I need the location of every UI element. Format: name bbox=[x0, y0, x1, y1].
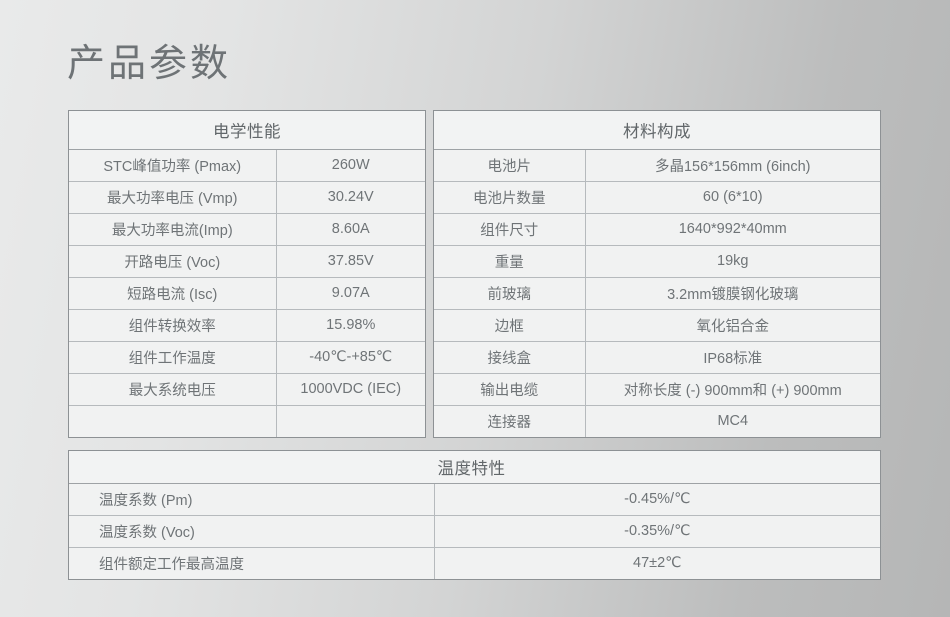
row-label: 连接器 bbox=[434, 405, 585, 437]
row-label: 温度系数 (Pm) bbox=[69, 483, 434, 515]
row-label: 短路电流 (Isc) bbox=[69, 277, 276, 309]
row-value: IP68标准 bbox=[585, 341, 880, 373]
table-row: 电池片 多晶156*156mm (6inch) bbox=[434, 149, 880, 181]
row-label: 组件工作温度 bbox=[69, 341, 276, 373]
table-row: 组件额定工作最高温度 47±2℃ bbox=[69, 547, 880, 579]
table-header-row: 材料构成 bbox=[434, 111, 880, 149]
row-value: 多晶156*156mm (6inch) bbox=[585, 149, 880, 181]
table-row: 最大功率电压 (Vmp) 30.24V bbox=[69, 181, 425, 213]
row-label: 组件额定工作最高温度 bbox=[69, 547, 434, 579]
temperature-characteristics-table: 温度特性 温度系数 (Pm) -0.45%/℃ 温度系数 (Voc) -0.35… bbox=[68, 450, 881, 580]
row-label: 组件转换效率 bbox=[69, 309, 276, 341]
row-label: 重量 bbox=[434, 245, 585, 277]
temperature-table-title: 温度特性 bbox=[69, 451, 880, 483]
row-value: 60 (6*10) bbox=[585, 181, 880, 213]
table-row: 接线盒 IP68标准 bbox=[434, 341, 880, 373]
row-value: 9.07A bbox=[276, 277, 425, 309]
row-label: 组件尺寸 bbox=[434, 213, 585, 245]
table-row: 最大系统电压 1000VDC (IEC) bbox=[69, 373, 425, 405]
row-label: 电池片 bbox=[434, 149, 585, 181]
row-label: 温度系数 (Voc) bbox=[69, 515, 434, 547]
material-table-title: 材料构成 bbox=[434, 111, 880, 149]
row-label: 边框 bbox=[434, 309, 585, 341]
row-label: 接线盒 bbox=[434, 341, 585, 373]
row-value: -0.45%/℃ bbox=[434, 483, 880, 515]
material-composition-table: 材料构成 电池片 多晶156*156mm (6inch) 电池片数量 60 (6… bbox=[433, 110, 881, 438]
row-value: MC4 bbox=[585, 405, 880, 437]
row-value: 氧化铝合金 bbox=[585, 309, 880, 341]
table-header-row: 温度特性 bbox=[69, 451, 880, 483]
row-value: 1640*992*40mm bbox=[585, 213, 880, 245]
row-value: 19kg bbox=[585, 245, 880, 277]
row-value: 8.60A bbox=[276, 213, 425, 245]
row-value: -40℃-+85℃ bbox=[276, 341, 425, 373]
row-label: 开路电压 (Voc) bbox=[69, 245, 276, 277]
table-row: STC峰值功率 (Pmax) 260W bbox=[69, 149, 425, 181]
table-row: 前玻璃 3.2mm镀膜钢化玻璃 bbox=[434, 277, 880, 309]
product-parameters-page: 产品参数 电学性能 STC峰值功率 (Pmax) 260W 最大功率电压 (Vm… bbox=[0, 0, 950, 617]
row-value: 47±2℃ bbox=[434, 547, 880, 579]
row-label: 前玻璃 bbox=[434, 277, 585, 309]
row-label: 最大功率电流(Imp) bbox=[69, 213, 276, 245]
row-value: 1000VDC (IEC) bbox=[276, 373, 425, 405]
table-row: 连接器 MC4 bbox=[434, 405, 880, 437]
row-value: 3.2mm镀膜钢化玻璃 bbox=[585, 277, 880, 309]
table-row: 组件工作温度 -40℃-+85℃ bbox=[69, 341, 425, 373]
row-label: STC峰值功率 (Pmax) bbox=[69, 149, 276, 181]
table-row: 开路电压 (Voc) 37.85V bbox=[69, 245, 425, 277]
row-value: 15.98% bbox=[276, 309, 425, 341]
row-value bbox=[276, 405, 425, 437]
table-row: 温度系数 (Voc) -0.35%/℃ bbox=[69, 515, 880, 547]
table-row: 最大功率电流(Imp) 8.60A bbox=[69, 213, 425, 245]
page-title: 产品参数 bbox=[67, 42, 231, 88]
row-value: 260W bbox=[276, 149, 425, 181]
table-row: 边框 氧化铝合金 bbox=[434, 309, 880, 341]
table-row: 温度系数 (Pm) -0.45%/℃ bbox=[69, 483, 880, 515]
row-label: 最大功率电压 (Vmp) bbox=[69, 181, 276, 213]
electrical-table-title: 电学性能 bbox=[69, 111, 425, 149]
table-row: 输出电缆 对称长度 (-) 900mm和 (+) 900mm bbox=[434, 373, 880, 405]
row-label: 输出电缆 bbox=[434, 373, 585, 405]
row-value: -0.35%/℃ bbox=[434, 515, 880, 547]
table-row: 短路电流 (Isc) 9.07A bbox=[69, 277, 425, 309]
table-row-empty bbox=[69, 405, 425, 437]
row-value: 37.85V bbox=[276, 245, 425, 277]
table-row: 组件转换效率 15.98% bbox=[69, 309, 425, 341]
row-label bbox=[69, 405, 276, 437]
row-value: 对称长度 (-) 900mm和 (+) 900mm bbox=[585, 373, 880, 405]
table-header-row: 电学性能 bbox=[69, 111, 425, 149]
table-row: 电池片数量 60 (6*10) bbox=[434, 181, 880, 213]
table-row: 重量 19kg bbox=[434, 245, 880, 277]
electrical-performance-table: 电学性能 STC峰值功率 (Pmax) 260W 最大功率电压 (Vmp) 30… bbox=[68, 110, 426, 438]
row-label: 电池片数量 bbox=[434, 181, 585, 213]
row-value: 30.24V bbox=[276, 181, 425, 213]
table-row: 组件尺寸 1640*992*40mm bbox=[434, 213, 880, 245]
row-label: 最大系统电压 bbox=[69, 373, 276, 405]
